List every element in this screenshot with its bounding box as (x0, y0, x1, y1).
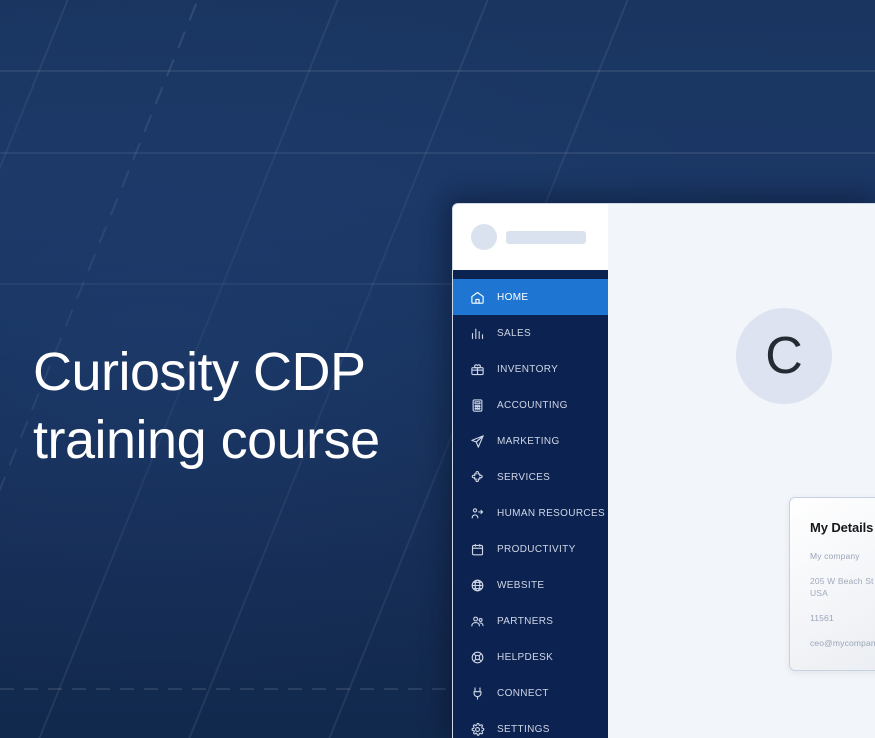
company-postcode: 11561 (810, 612, 875, 624)
people-arrow-icon (470, 506, 485, 521)
calendar-icon (470, 542, 485, 557)
app-topbar-filler (608, 204, 875, 270)
paper-plane-icon (470, 434, 485, 449)
sidebar-item-human-resources[interactable]: HUMAN RESOURCES (453, 495, 608, 531)
sidebar-item-label: SETTINGS (497, 724, 550, 735)
puzzle-icon (470, 470, 485, 485)
bar-chart-icon (470, 326, 485, 341)
company-email: ceo@mycompany.com (810, 637, 875, 649)
card-title: My Details (810, 520, 875, 535)
user-avatar-circle-icon[interactable] (471, 224, 497, 250)
sidebar-item-label: SALES (497, 328, 531, 339)
sidebar-item-label: MARKETING (497, 436, 560, 447)
home-icon (470, 290, 485, 305)
calculator-icon (470, 398, 485, 413)
lifebuoy-icon (470, 650, 485, 665)
my-details-card: My Details My company 205 W Beach St Lon… (789, 497, 875, 671)
globe-icon (470, 578, 485, 593)
users-icon (470, 614, 485, 629)
sidebar-item-helpdesk[interactable]: HELPDESK (453, 639, 608, 675)
sidebar-item-connect[interactable]: CONNECT (453, 675, 608, 711)
sidebar-item-website[interactable]: WEBSITE (453, 567, 608, 603)
sidebar-item-label: SERVICES (497, 472, 550, 483)
sidebar-item-label: PARTNERS (497, 616, 553, 627)
screenshot-stage: Curiosity CDP training course HOME SALES (0, 0, 875, 738)
company-address: 205 W Beach St Long Beach NY 11561 USA (810, 575, 875, 599)
plug-icon (470, 686, 485, 701)
page-title: Curiosity CDP training course (33, 338, 453, 474)
logo-placeholder (506, 231, 586, 244)
sidebar-item-label: ACCOUNTING (497, 400, 568, 411)
app-topbar (453, 204, 608, 270)
sidebar-item-label: WEBSITE (497, 580, 544, 591)
app-window-mockup: HOME SALES INVENTORY ACCOUNTING (452, 203, 875, 738)
sidebar-item-label: INVENTORY (497, 364, 558, 375)
sidebar-item-accounting[interactable]: ACCOUNTING (453, 387, 608, 423)
sidebar-item-label: PRODUCTIVITY (497, 544, 576, 555)
sidebar-item-label: HOME (497, 292, 528, 303)
gear-icon (470, 722, 485, 737)
company-avatar: C (736, 308, 832, 404)
sidebar-item-settings[interactable]: SETTINGS (453, 711, 608, 738)
sidebar-item-label: CONNECT (497, 688, 549, 699)
sidebar-item-marketing[interactable]: MARKETING (453, 423, 608, 459)
sidebar-item-label: HUMAN RESOURCES (497, 508, 605, 519)
main-content: C My Details My company 205 W Beach St L… (608, 270, 875, 738)
sidebar-item-inventory[interactable]: INVENTORY (453, 351, 608, 387)
sidebar-item-label: HELPDESK (497, 652, 553, 663)
sidebar-item-productivity[interactable]: PRODUCTIVITY (453, 531, 608, 567)
company-name: My company (810, 550, 875, 562)
sidebar-nav: HOME SALES INVENTORY ACCOUNTING (453, 270, 608, 738)
sidebar-item-services[interactable]: SERVICES (453, 459, 608, 495)
box-icon (470, 362, 485, 377)
sidebar-item-partners[interactable]: PARTNERS (453, 603, 608, 639)
sidebar-item-home[interactable]: HOME (453, 279, 608, 315)
sidebar-item-sales[interactable]: SALES (453, 315, 608, 351)
